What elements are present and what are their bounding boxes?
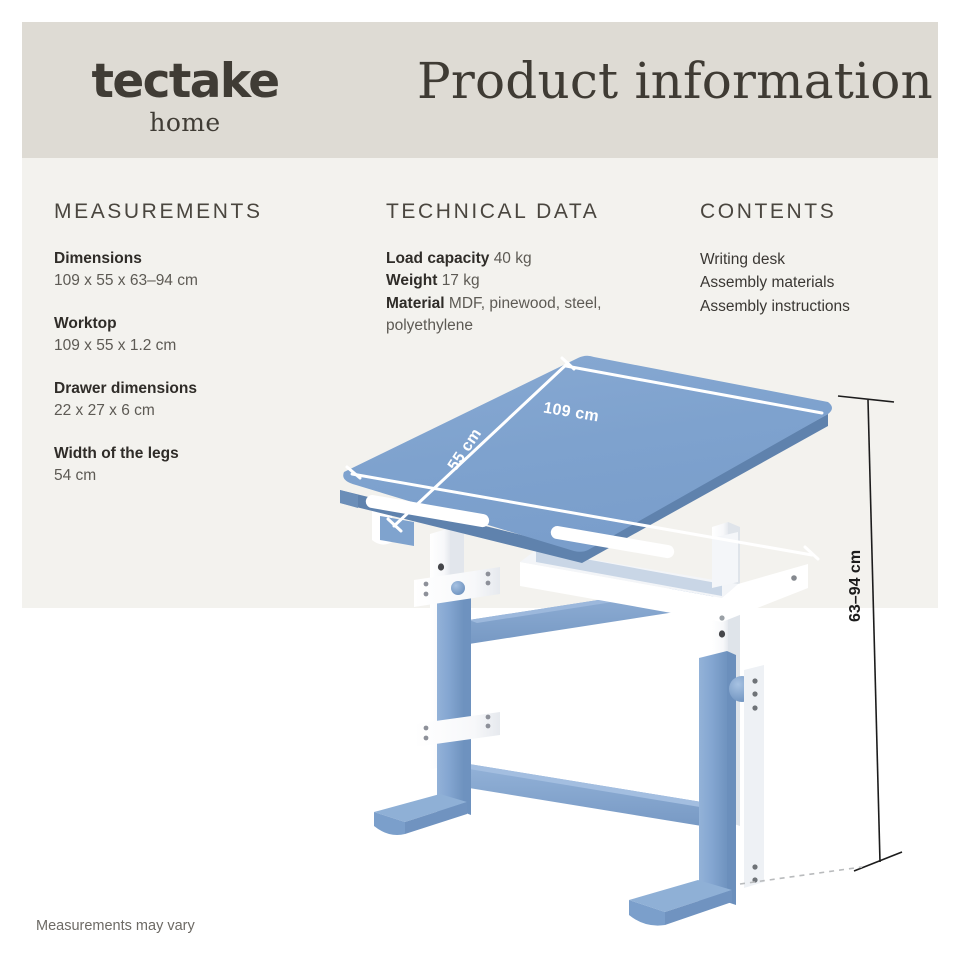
leg-right bbox=[699, 651, 727, 908]
dimension-label-height: 63–94 cm bbox=[847, 550, 865, 622]
technical-data-heading: TECHNICAL DATA bbox=[386, 200, 686, 224]
measurement-value: 22 x 27 x 6 cm bbox=[54, 400, 374, 422]
foot-right-front bbox=[629, 900, 665, 926]
measurement-label: Dimensions bbox=[54, 248, 374, 270]
height-adjust-knob bbox=[729, 676, 755, 702]
leg-left-edge bbox=[463, 582, 471, 815]
measurement-value: 109 x 55 x 63–94 cm bbox=[54, 270, 374, 292]
adjustment-holes-right bbox=[719, 603, 725, 779]
product-information-sheet: tectake home Product information bbox=[22, 22, 938, 938]
measurements-heading: MEASUREMENTS bbox=[54, 200, 374, 224]
technical-data-column: TECHNICAL DATA Load capacity 40 kg Weigh… bbox=[386, 200, 686, 338]
measurement-label: Worktop bbox=[54, 313, 374, 335]
contents-heading: CONTENTS bbox=[700, 200, 940, 224]
cross-rail-lower bbox=[469, 764, 714, 828]
foot-left bbox=[374, 794, 467, 822]
measurement-value: 54 cm bbox=[54, 465, 374, 487]
technical-value: 40 kg bbox=[494, 250, 532, 267]
leg-right-edge bbox=[727, 651, 736, 905]
measurement-dimensions: Dimensions 109 x 55 x 63–94 cm bbox=[54, 248, 374, 293]
height-tick-bottom bbox=[854, 852, 902, 871]
cross-rail-lower-top bbox=[463, 764, 714, 808]
foot-right bbox=[629, 880, 732, 912]
measurement-leg-width: Width of the legs 54 cm bbox=[54, 443, 374, 488]
contents-column: CONTENTS Writing desk Assembly materials… bbox=[700, 200, 940, 318]
page-title: Product information bbox=[417, 52, 917, 110]
measurement-worktop: Worktop 109 x 55 x 1.2 cm bbox=[54, 313, 374, 358]
foot-left-right bbox=[405, 802, 467, 834]
measurement-value: 109 x 55 x 1.2 cm bbox=[54, 335, 374, 357]
bracket-lower-left bbox=[414, 712, 500, 747]
leg-left bbox=[437, 582, 463, 818]
technical-value: 17 kg bbox=[442, 272, 480, 289]
measurements-column: MEASUREMENTS Dimensions 109 x 55 x 63–94… bbox=[54, 200, 374, 508]
brand-logo: tectake home bbox=[70, 58, 300, 135]
brand-tagline: home bbox=[70, 110, 300, 135]
foot-left-front bbox=[374, 812, 405, 835]
foot-right-right bbox=[665, 890, 732, 925]
technical-row-weight: Weight 17 kg bbox=[386, 270, 686, 292]
technical-label: Load capacity bbox=[386, 250, 489, 267]
contents-item: Assembly instructions bbox=[700, 295, 940, 318]
measurement-label: Width of the legs bbox=[54, 443, 374, 465]
height-adjust-knob-stem bbox=[748, 680, 758, 698]
footer-disclaimer: Measurements may vary bbox=[36, 918, 195, 934]
measurement-label: Drawer dimensions bbox=[54, 378, 374, 400]
header-band: tectake home Product information bbox=[22, 22, 938, 158]
measurement-drawer: Drawer dimensions 22 x 27 x 6 cm bbox=[54, 378, 374, 423]
slat-right bbox=[744, 665, 764, 888]
slat-right-holes bbox=[752, 678, 757, 882]
technical-label: Material bbox=[386, 295, 445, 312]
technical-label: Weight bbox=[386, 272, 437, 289]
technical-row-material: Material MDF, pinewood, steel, polyethyl… bbox=[386, 293, 686, 338]
contents-item: Writing desk bbox=[700, 248, 940, 271]
contents-item: Assembly materials bbox=[700, 271, 940, 294]
drawer-screw-bottom bbox=[719, 615, 724, 620]
technical-row-load-capacity: Load capacity 40 kg bbox=[386, 248, 686, 270]
height-leader-dashed bbox=[740, 867, 862, 884]
brand-name: tectake bbox=[70, 58, 300, 105]
